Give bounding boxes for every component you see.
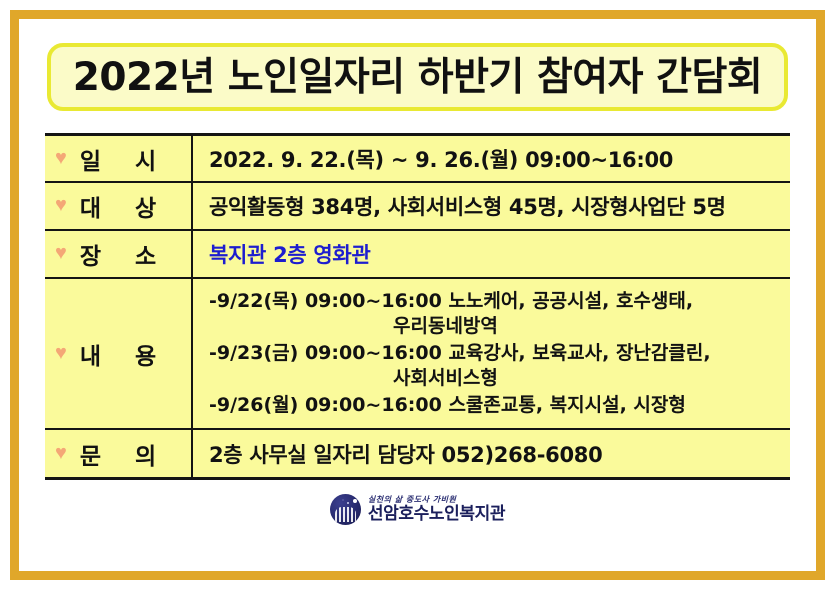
label-cell-contact: ♥ 문 의 [45,430,193,477]
info-table: ♥ 일 시 2022. 9. 22.(목) ~ 9. 26.(월) 09:00~… [45,133,790,480]
row-label: 일 시 [77,142,169,176]
value-cell-content: -9/22(목) 09:00~16:00 노노케어, 공공시설, 호수생태, 우… [193,279,790,428]
schedule-main: -9/26(월) 09:00~16:00 스쿨존교통, 복지시설, 시장형 [209,394,686,416]
schedule-item: -9/26(월) 09:00~16:00 스쿨존교통, 복지시설, 시장형 [209,393,786,418]
value-cell-place: 복지관 2층 영화관 [193,231,790,277]
poster-title-box: 2022년 노인일자리 하반기 참여자 간담회 [47,43,788,111]
table-row-target: ♥ 대 상 공익활동형 384명, 사회서비스형 45명, 시장형사업단 5명 [45,183,790,231]
table-row-datetime: ♥ 일 시 2022. 9. 22.(목) ~ 9. 26.(월) 09:00~… [45,136,790,183]
row-value: 공익활동형 384명, 사회서비스형 45명, 시장형사업단 5명 [209,191,726,221]
poster-inner: 2022년 노인일자리 하반기 참여자 간담회 ♥ 일 시 2022. 9. 2… [19,19,816,571]
row-value: 복지관 2층 영화관 [209,239,370,269]
heart-icon: ♥ [55,343,67,363]
logo-text-block: 실천의 삶 중도사 가비원 선암호수노인복지관 [368,496,505,523]
table-row-content: ♥ 내 용 -9/22(목) 09:00~16:00 노노케어, 공공시설, 호… [45,279,790,430]
row-label: 문 의 [77,437,169,471]
schedule-item: -9/22(목) 09:00~16:00 노노케어, 공공시설, 호수생태, 우… [209,289,786,339]
logo-tagline: 실천의 삶 중도사 가비원 [368,496,505,504]
welfare-center-logo-icon [330,494,361,525]
label-cell-target: ♥ 대 상 [45,183,193,229]
schedule-main: -9/22(목) 09:00~16:00 노노케어, 공공시설, 호수생태, [209,290,693,312]
heart-icon: ♥ [55,195,67,215]
label-cell-datetime: ♥ 일 시 [45,136,193,181]
value-cell-contact: 2층 사무실 일자리 담당자 052)268-6080 [193,430,790,477]
table-row-contact: ♥ 문 의 2층 사무실 일자리 담당자 052)268-6080 [45,430,790,477]
row-value: 2022. 9. 22.(목) ~ 9. 26.(월) 09:00~16:00 [209,144,673,174]
schedule-item: -9/23(금) 09:00~16:00 교육강사, 보육교사, 장난감클린, … [209,341,786,391]
poster-frame: 2022년 노인일자리 하반기 참여자 간담회 ♥ 일 시 2022. 9. 2… [10,10,825,580]
row-label: 내 용 [77,337,169,371]
schedule-main: -9/23(금) 09:00~16:00 교육강사, 보육교사, 장난감클린, [209,342,711,364]
value-cell-datetime: 2022. 9. 22.(목) ~ 9. 26.(월) 09:00~16:00 [193,136,790,181]
heart-icon: ♥ [55,148,67,168]
value-cell-target: 공익활동형 384명, 사회서비스형 45명, 시장형사업단 5명 [193,183,790,229]
page-title: 2022년 노인일자리 하반기 참여자 간담회 [73,58,763,97]
row-label: 대 상 [77,189,169,223]
footer-logo: 실천의 삶 중도사 가비원 선암호수노인복지관 [43,494,792,525]
table-row-place: ♥ 장 소 복지관 2층 영화관 [45,231,790,279]
content-schedule-list: -9/22(목) 09:00~16:00 노노케어, 공공시설, 호수생태, 우… [209,289,786,418]
heart-icon: ♥ [55,443,67,463]
label-cell-place: ♥ 장 소 [45,231,193,277]
schedule-cont: 우리동네방역 [209,314,786,339]
row-value: 2층 사무실 일자리 담당자 052)268-6080 [209,439,602,469]
heart-icon: ♥ [55,243,67,263]
schedule-cont: 사회서비스형 [209,366,786,391]
label-cell-content: ♥ 내 용 [45,279,193,428]
row-label: 장 소 [77,237,169,271]
logo-organization-name: 선암호수노인복지관 [368,506,505,523]
